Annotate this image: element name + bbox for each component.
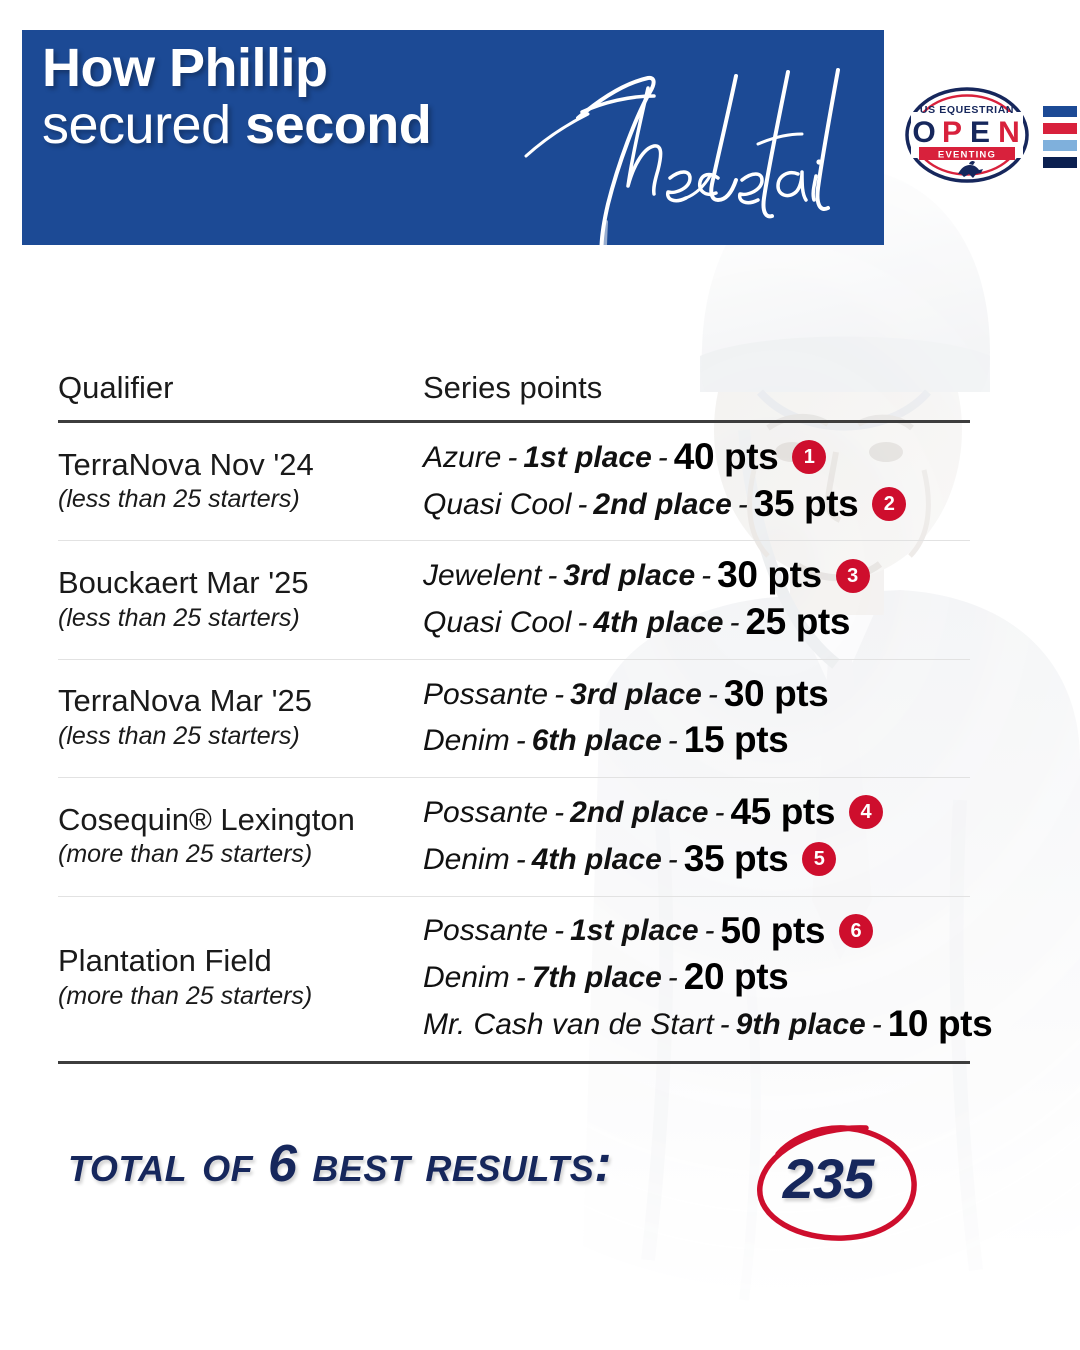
result-separator: - — [548, 914, 570, 947]
horse-name: Quasi Cool — [423, 606, 571, 639]
stripe-3 — [1043, 140, 1077, 151]
headline-line-1: How Phillip — [42, 42, 431, 95]
total-value: 235 — [748, 1146, 908, 1211]
placing: 3rd place — [570, 678, 702, 711]
result-separator: - — [708, 796, 730, 829]
series-points-cell: Jewelent-3rd place-30 pts3Quasi Cool-4th… — [423, 555, 970, 642]
placing: 4th place — [593, 606, 723, 639]
result-separator: - — [732, 488, 754, 521]
table-footer-rule — [58, 1061, 970, 1064]
result-line: Mr. Cash van de Start-9th place-10 pts — [423, 1004, 1040, 1045]
column-header-qualifier: Qualifier — [58, 370, 423, 406]
points-value: 30 pts — [724, 674, 829, 715]
points-value: 35 pts — [754, 484, 859, 525]
points-value: 15 pts — [684, 720, 789, 761]
result-separator: - — [548, 678, 570, 711]
flag-stripes — [1043, 106, 1077, 168]
qualifier-starters-note: (less than 25 starters) — [58, 603, 413, 634]
svg-text:US EQUESTRIAN: US EQUESTRIAN — [920, 104, 1014, 116]
infographic-page: How Phillip secured second The detail — [0, 0, 1080, 1350]
counted-result-badge: 5 — [802, 842, 836, 876]
horse-name: Possante — [423, 678, 548, 711]
points-value: 25 pts — [745, 602, 850, 643]
qualifier-starters-note: (less than 25 starters) — [58, 484, 413, 515]
counted-result-badge: 6 — [839, 914, 873, 948]
column-header-series-points: Series points — [423, 370, 970, 406]
result-separator: - — [571, 606, 593, 639]
result-separator: - — [510, 843, 532, 876]
result-separator: - — [662, 843, 684, 876]
horse-name: Denim — [423, 961, 510, 994]
page-title: How Phillip secured second — [42, 42, 431, 152]
horse-name: Possante — [423, 796, 548, 829]
table-header-row: Qualifier Series points — [58, 370, 970, 420]
result-line: Possante-1st place-50 pts6 — [423, 911, 1040, 952]
horse-name: Jewelent — [423, 559, 541, 592]
results-table: Qualifier Series points TerraNova Nov '2… — [58, 370, 970, 1064]
table-row: Cosequin® Lexington(more than 25 starter… — [58, 778, 970, 895]
qualifier-name: TerraNova Nov '24 — [58, 447, 413, 484]
points-value: 20 pts — [684, 957, 789, 998]
qualifier-starters-note: (more than 25 starters) — [58, 839, 413, 870]
qualifier-cell: TerraNova Nov '24(less than 25 starters) — [58, 447, 423, 515]
us-equestrian-open-logo: US EQUESTRIAN O P E N EVENTING — [903, 86, 1031, 184]
qualifier-cell: Bouckaert Mar '25(less than 25 starters) — [58, 565, 423, 633]
result-line: Denim-7th place-20 pts — [423, 957, 1040, 998]
qualifier-name: Bouckaert Mar '25 — [58, 565, 413, 602]
qualifier-name: TerraNova Mar '25 — [58, 683, 413, 720]
placing: 2nd place — [570, 796, 708, 829]
horse-name: Denim — [423, 843, 510, 876]
placing: 4th place — [532, 843, 662, 876]
svg-text:EVENTING: EVENTING — [938, 150, 996, 161]
qualifier-name: Cosequin® Lexington — [58, 802, 413, 839]
result-separator: - — [501, 441, 523, 474]
result-separator: - — [662, 724, 684, 757]
result-separator: - — [662, 961, 684, 994]
table-row: TerraNova Mar '25(less than 25 starters)… — [58, 660, 970, 777]
table-row: Bouckaert Mar '25(less than 25 starters)… — [58, 541, 970, 658]
horse-name: Mr. Cash van de Start — [423, 1008, 714, 1041]
points-value: 45 pts — [730, 792, 835, 833]
horse-name: Denim — [423, 724, 510, 757]
qualifier-starters-note: (less than 25 starters) — [58, 721, 413, 752]
result-separator: - — [723, 606, 745, 639]
result-line: Quasi Cool-4th place-25 pts — [423, 602, 970, 643]
result-separator: - — [571, 488, 593, 521]
points-value: 35 pts — [684, 839, 789, 880]
total-value-group: 235 — [748, 1120, 928, 1245]
counted-result-badge: 3 — [836, 559, 870, 593]
result-separator: - — [699, 914, 721, 947]
placing: 3rd place — [563, 559, 695, 592]
total-summary: Total of 6 best results: 235 — [58, 1118, 970, 1238]
headline-line-2: secured second — [42, 99, 431, 152]
placing: 1st place — [523, 441, 651, 474]
series-points-cell: Possante-1st place-50 pts6Denim-7th plac… — [423, 911, 1040, 1045]
horse-name: Quasi Cool — [423, 488, 571, 521]
qualifier-cell: TerraNova Mar '25(less than 25 starters) — [58, 683, 423, 751]
points-value: 10 pts — [888, 1004, 993, 1045]
total-label: Total of 6 best results: — [68, 1134, 612, 1194]
stripe-2 — [1043, 123, 1077, 134]
qualifier-starters-note: (more than 25 starters) — [58, 981, 413, 1012]
result-separator: - — [510, 961, 532, 994]
result-separator: - — [714, 1008, 736, 1041]
result-line: Possante-3rd place-30 pts — [423, 674, 970, 715]
table-row: TerraNova Nov '24(less than 25 starters)… — [58, 423, 970, 540]
headline-line-2-plain: secured — [42, 95, 245, 155]
placing: 9th place — [736, 1008, 866, 1041]
table-row: Plantation Field(more than 25 starters)P… — [58, 897, 970, 1061]
horse-name: Azure — [423, 441, 501, 474]
counted-result-badge: 2 — [872, 487, 906, 521]
qualifier-name: Plantation Field — [58, 943, 413, 980]
points-value: 40 pts — [674, 437, 779, 478]
stripe-4 — [1043, 157, 1077, 168]
series-points-cell: Possante-3rd place-30 ptsDenim-6th place… — [423, 674, 970, 761]
result-separator: - — [866, 1008, 888, 1041]
series-points-cell: Possante-2nd place-45 pts4Denim-4th plac… — [423, 792, 970, 879]
result-separator: - — [548, 796, 570, 829]
result-line: Denim-6th place-15 pts — [423, 720, 970, 761]
result-separator: - — [510, 724, 532, 757]
result-separator: - — [541, 559, 563, 592]
result-separator: - — [695, 559, 717, 592]
points-value: 30 pts — [717, 555, 822, 596]
qualifier-cell: Cosequin® Lexington(more than 25 starter… — [58, 802, 423, 870]
qualifier-cell: Plantation Field(more than 25 starters) — [58, 943, 423, 1011]
placing: 6th place — [532, 724, 662, 757]
svg-text:O: O — [912, 116, 935, 149]
result-line: Azure-1st place-40 pts1 — [423, 437, 970, 478]
counted-result-badge: 1 — [792, 440, 826, 474]
result-line: Denim-4th place-35 pts5 — [423, 839, 970, 880]
result-line: Possante-2nd place-45 pts4 — [423, 792, 970, 833]
svg-text:N: N — [998, 116, 1020, 149]
placing: 2nd place — [593, 488, 731, 521]
result-separator: - — [702, 678, 724, 711]
headline-line-2-bold: second — [245, 95, 431, 155]
result-separator: - — [652, 441, 674, 474]
series-points-cell: Azure-1st place-40 pts1Quasi Cool-2nd pl… — [423, 437, 970, 524]
result-line: Quasi Cool-2nd place-35 pts2 — [423, 484, 970, 525]
svg-text:E: E — [970, 116, 990, 149]
result-line: Jewelent-3rd place-30 pts3 — [423, 555, 970, 596]
points-value: 50 pts — [721, 911, 826, 952]
stripe-1 — [1043, 106, 1077, 117]
svg-text:P: P — [942, 116, 962, 149]
placing: 1st place — [570, 914, 698, 947]
horse-name: Possante — [423, 914, 548, 947]
placing: 7th place — [532, 961, 662, 994]
counted-result-badge: 4 — [849, 795, 883, 829]
